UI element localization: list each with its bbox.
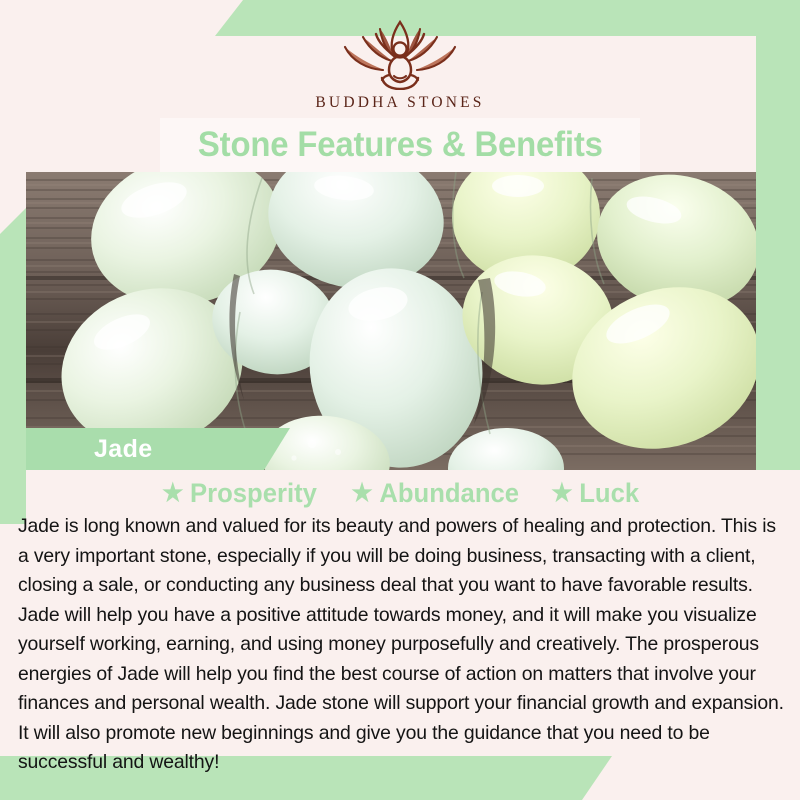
stone-name-badge: Jade xyxy=(26,428,290,470)
benefit-label: Abundance xyxy=(379,478,519,509)
jade-stones-photo xyxy=(26,172,756,470)
star-icon: ★ xyxy=(552,481,573,506)
decor-ribbon-left xyxy=(0,208,26,524)
benefit-label: Prosperity xyxy=(190,478,317,509)
star-icon: ★ xyxy=(351,481,372,506)
benefit-label: Luck xyxy=(580,478,640,509)
description-text: Jade is long known and valued for its be… xyxy=(18,512,786,778)
benefits-row: ★ Prosperity ★ Abundance ★ Luck xyxy=(0,478,800,509)
title-banner: Stone Features & Benefits xyxy=(160,118,640,172)
brand-header: BUDDHA STONES xyxy=(0,0,800,118)
brand-name: BUDDHA STONES xyxy=(315,94,484,112)
brand-logo: BUDDHA STONES xyxy=(0,18,800,112)
photo-artwork xyxy=(26,172,756,470)
star-icon: ★ xyxy=(162,481,183,506)
infographic-card: BUDDHA STONES Stone Features & Benefits xyxy=(0,0,800,800)
benefit-abundance: ★ Abundance xyxy=(351,478,519,509)
stone-description: Jade is long known and valued for its be… xyxy=(18,512,786,778)
stone-name: Jade xyxy=(94,435,153,464)
lotus-meditation-figure-icon xyxy=(326,18,474,90)
page-title: Stone Features & Benefits xyxy=(198,125,603,165)
benefit-prosperity: ★ Prosperity xyxy=(162,478,317,509)
benefit-luck: ★ Luck xyxy=(552,478,640,509)
